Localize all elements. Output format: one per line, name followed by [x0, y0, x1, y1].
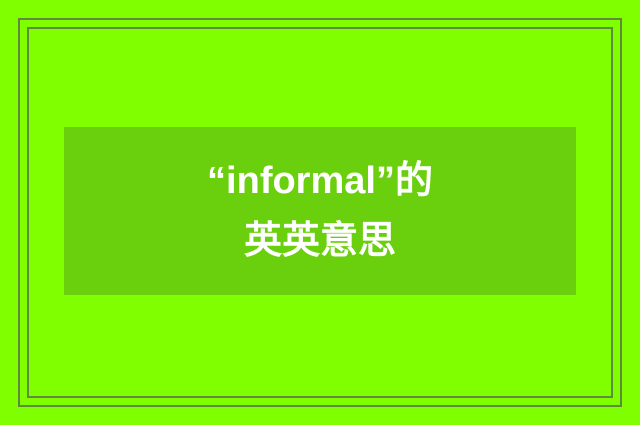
title-panel: “informal”的英英意思: [64, 127, 576, 295]
screenshot-canvas: “informal”的英英意思: [0, 0, 640, 425]
page-title: “informal”的英英意思: [200, 151, 440, 271]
